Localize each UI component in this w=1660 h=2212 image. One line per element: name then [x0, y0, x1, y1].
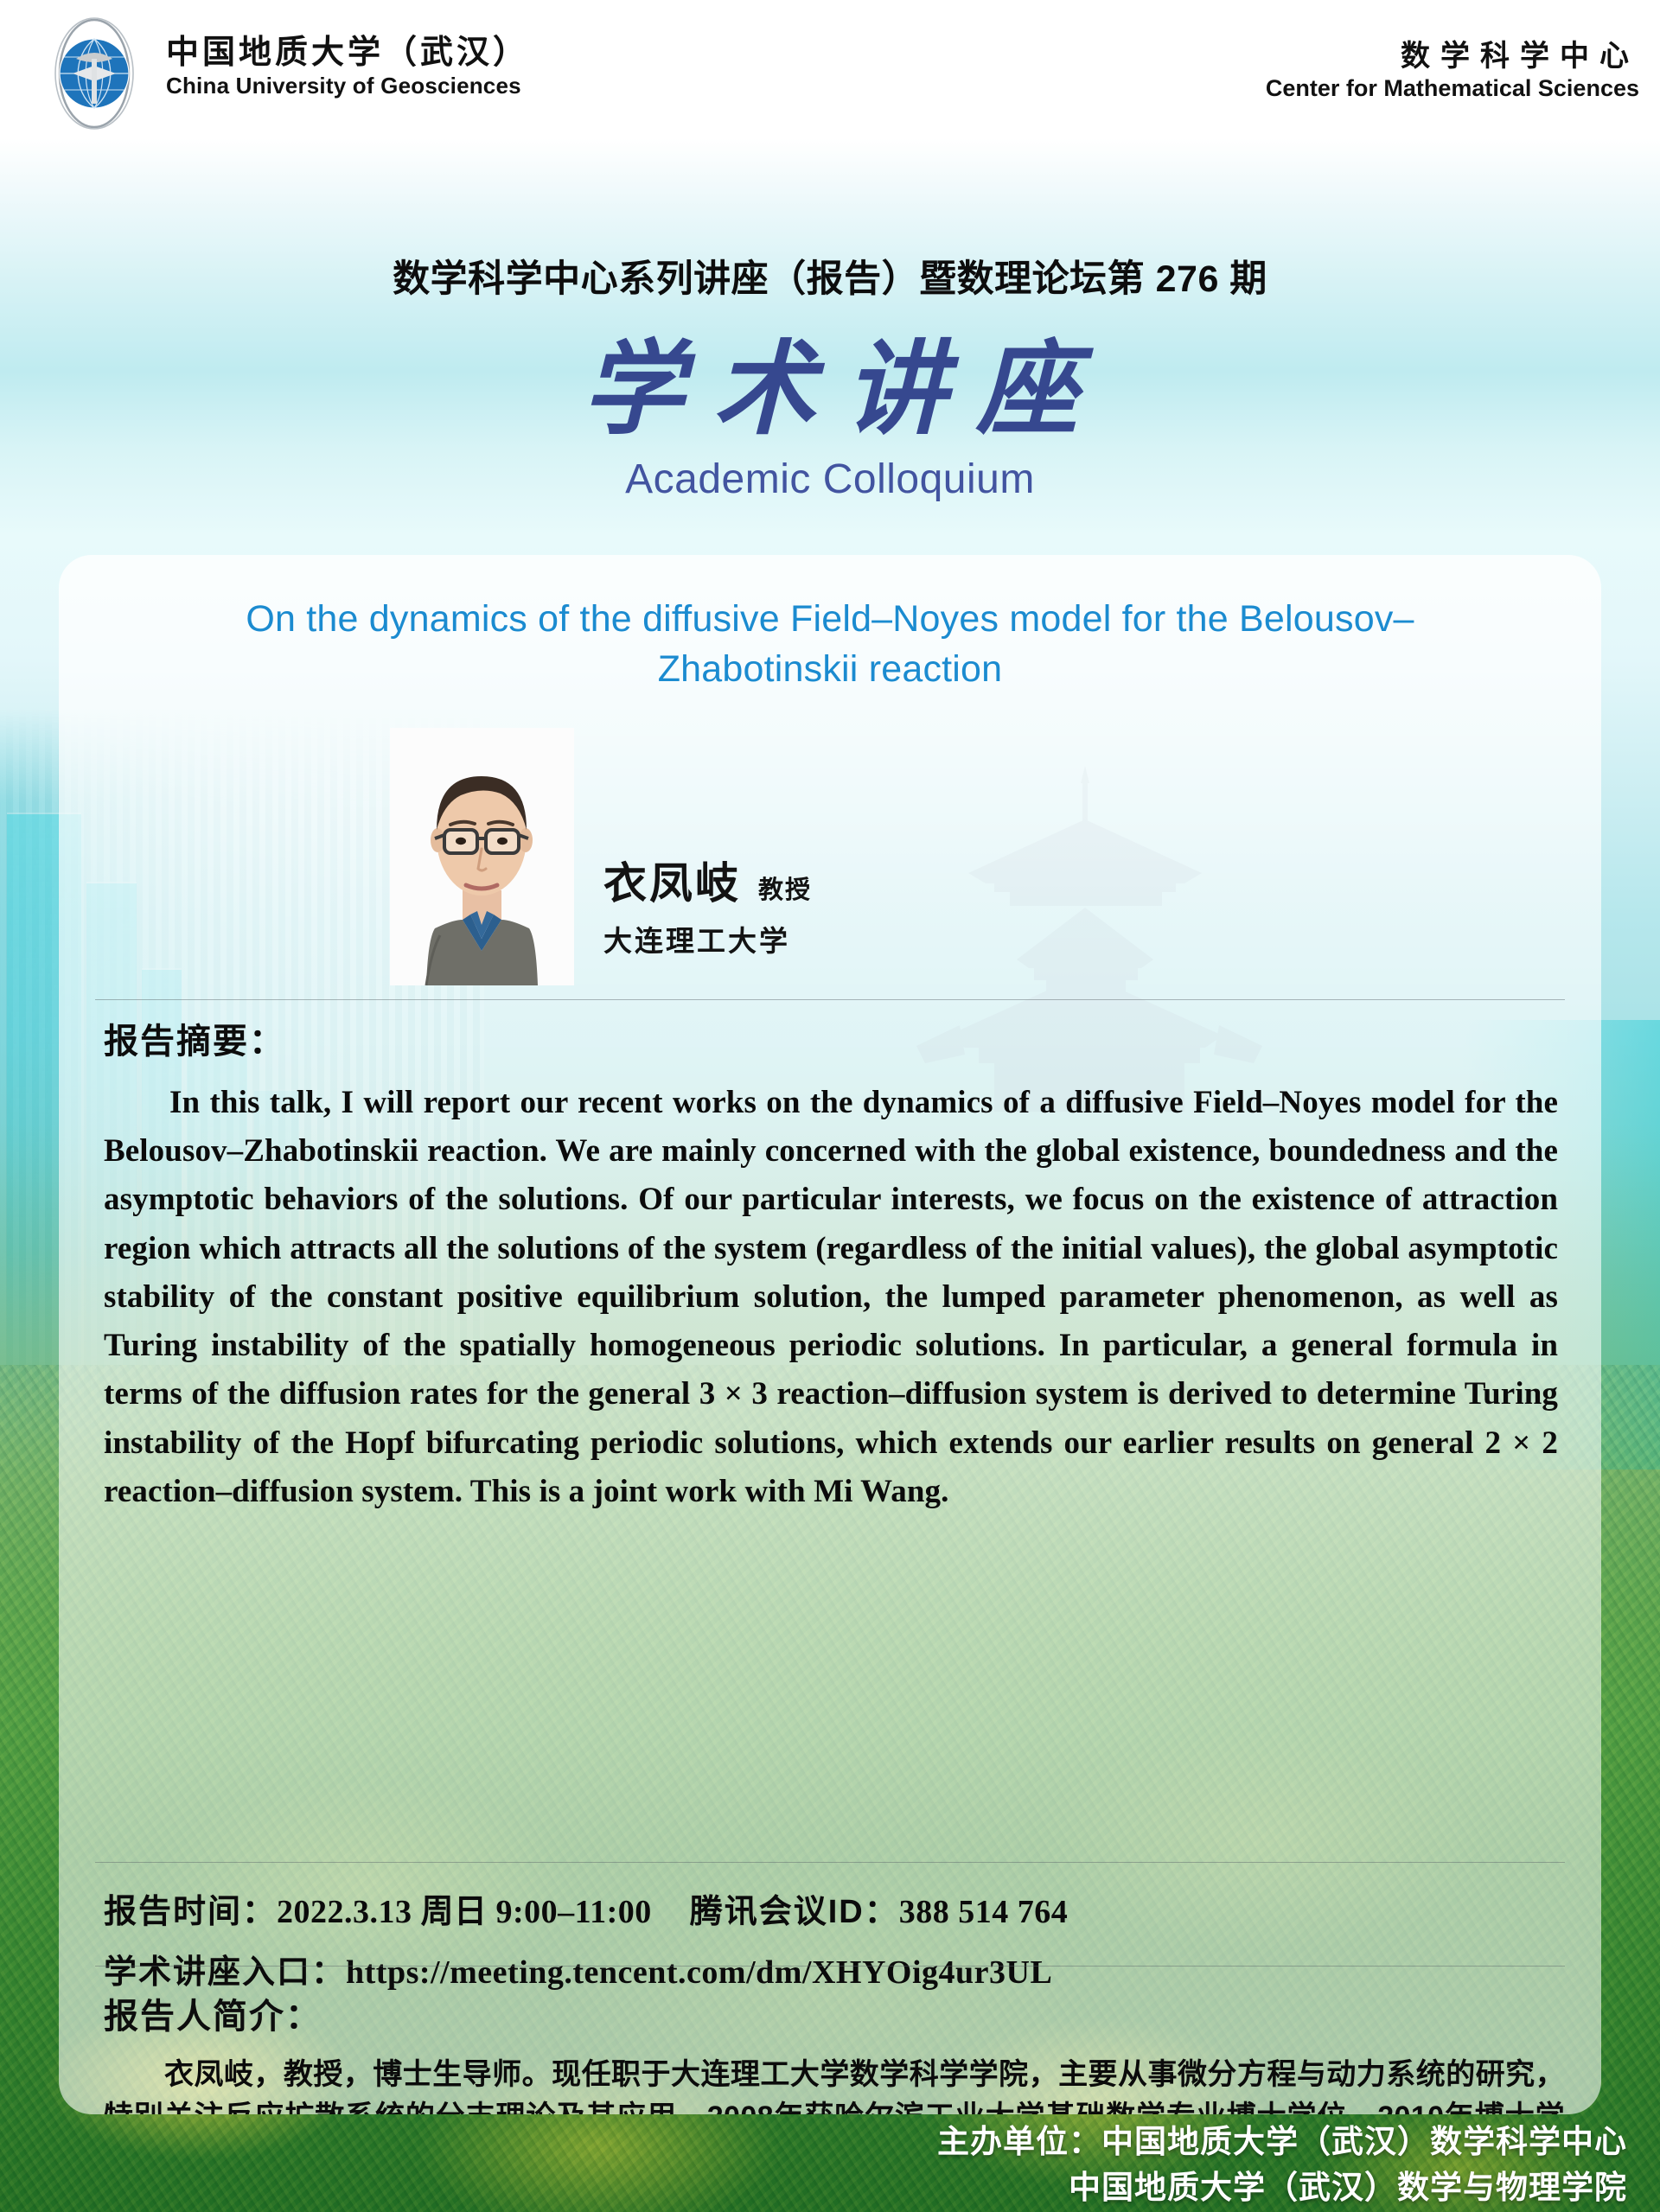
speaker-portrait-photo-icon [390, 728, 574, 985]
svg-text:1952: 1952 [87, 112, 101, 118]
bio-heading: 报告人简介： [104, 1988, 322, 2038]
speaker-name-row: 衣凤岐 教授 [603, 849, 1209, 911]
center-name-block: 数学科学中心 Center for Mathematical Sciences [1266, 38, 1639, 104]
university-logo: 1952 [38, 17, 150, 130]
series-title: 数学科学中心系列讲座（报告）暨数理论坛第 276 期 [0, 249, 1660, 303]
university-name-en: China University of Geosciences [166, 73, 529, 100]
center-name-cn: 数学科学中心 [1266, 38, 1639, 74]
logistics-time-row: 报告时间：2022.3.13 周日 9:00–11:00腾讯会议ID：388 5… [104, 1884, 1068, 1932]
poster-root: 1952 中国地质大学（武汉） China University of Geos… [0, 0, 1660, 2212]
entry-url[interactable]: https://meeting.tencent.com/dm/XHYOig4ur… [346, 1954, 1052, 1991]
meeting-id-label: 腾讯会议ID： [690, 1894, 899, 1930]
university-name-cn: 中国地质大学（武汉） [166, 33, 529, 73]
divider-above-bio [95, 1966, 1565, 1967]
talk-title: On the dynamics of the diffusive Field–N… [154, 595, 1506, 694]
cug-university-seal-icon: 1952 [38, 17, 150, 130]
entry-label: 学术讲座入口： [104, 1954, 346, 1991]
speaker-portrait [390, 728, 574, 985]
speaker-block: 衣凤岐 教授 大连理工大学 [59, 728, 1601, 998]
speaker-name: 衣凤岐 [603, 849, 741, 911]
divider-above-abstract [95, 999, 1565, 1000]
logistics-entry-row: 学术讲座入口：https://meeting.tencent.com/dm/XH… [104, 1945, 1052, 1992]
organizer-line-1: 主办单位：中国地质大学（武汉）数学科学中心 [0, 2120, 1627, 2165]
calligraphy-title-en: Academic Colloquium [0, 456, 1660, 503]
poster-header: 1952 中国地质大学（武汉） China University of Geos… [0, 0, 1660, 138]
calligraphy-title-cn: 学术讲座 [0, 335, 1660, 443]
time-value: 2022.3.13 周日 9:00–11:00 [277, 1894, 652, 1930]
abstract-heading: 报告摘要： [104, 1013, 285, 1063]
center-name-en: Center for Mathematical Sciences [1266, 74, 1639, 103]
abstract-body: In this talk, I will report our recent w… [104, 1079, 1558, 1516]
speaker-rank: 教授 [758, 870, 812, 906]
divider-above-logistics [95, 1862, 1565, 1863]
main-content-card: On the dynamics of the diffusive Field–N… [59, 555, 1601, 2114]
time-label: 报告时间： [104, 1894, 277, 1930]
poster-footer: 主办单位：中国地质大学（武汉）数学科学中心 中国地质大学（武汉）数学与物理学院 [0, 2120, 1660, 2210]
meeting-id-value: 388 514 764 [899, 1894, 1069, 1930]
speaker-info: 衣凤岐 教授 大连理工大学 [603, 849, 1209, 959]
bio-body: 衣凤岐，教授，博士生导师。现任职于大连理工大学数学科学学院，主要从事微分方程与动… [104, 2054, 1565, 2114]
organizer-line-2: 中国地质大学（武汉）数学与物理学院 [0, 2165, 1627, 2211]
speaker-affiliation: 大连理工大学 [603, 918, 1209, 959]
university-name-block: 中国地质大学（武汉） China University of Geoscienc… [166, 33, 529, 100]
